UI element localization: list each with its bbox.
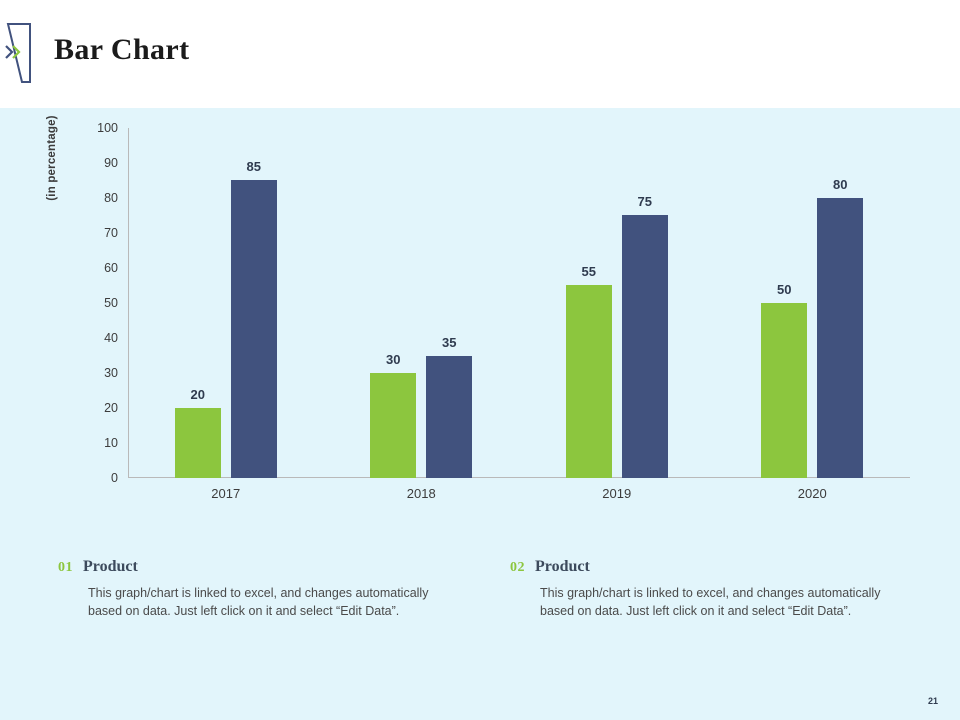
- y-tick-label: 90: [104, 156, 118, 170]
- bar-wrapper: 55: [566, 128, 612, 478]
- y-tick-label: 10: [104, 436, 118, 450]
- bar-value-label: 85: [247, 159, 261, 174]
- x-tick-label-2020: 2020: [715, 486, 910, 501]
- bar-2018-product-02[interactable]: [426, 356, 472, 478]
- note-number: 01: [58, 560, 73, 576]
- bar-wrapper: 35: [426, 128, 472, 478]
- chart-plot-area: 0 10 20 30 40 50 60 70 80 90 100 20: [128, 128, 910, 478]
- bar-groups: 20 85 30 35: [128, 128, 910, 478]
- slide-header: Bar Chart: [0, 0, 960, 108]
- y-tick-label: 50: [104, 296, 118, 310]
- bar-2020-product-01[interactable]: [761, 303, 807, 478]
- page-title: Bar Chart: [54, 33, 190, 67]
- x-tick-label-2017: 2017: [128, 486, 323, 501]
- bar-wrapper: 50: [761, 128, 807, 478]
- note-number: 02: [510, 560, 525, 576]
- bar-value-label: 75: [638, 194, 652, 209]
- note-title: Product: [535, 558, 590, 576]
- bar-value-label: 35: [442, 335, 456, 350]
- bar-value-label: 30: [386, 352, 400, 367]
- bar-wrapper: 80: [817, 128, 863, 478]
- bar-value-label: 80: [833, 177, 847, 192]
- y-tick-label: 70: [104, 226, 118, 240]
- bar-wrapper: 85: [231, 128, 277, 478]
- bar-wrapper: 20: [175, 128, 221, 478]
- note-header: 01 Product: [58, 558, 488, 576]
- note-title: Product: [83, 558, 138, 576]
- bar-2018-product-01[interactable]: [370, 373, 416, 478]
- bar-2020-product-02[interactable]: [817, 198, 863, 478]
- note-item-02: 02 Product This graph/chart is linked to…: [510, 558, 940, 620]
- note-text: This graph/chart is linked to excel, and…: [88, 584, 443, 620]
- bar-value-label: 50: [777, 282, 791, 297]
- y-axis-title: (in percentage): [46, 88, 58, 228]
- x-axis-labels: 2017 2018 2019 2020: [128, 486, 910, 501]
- note-header: 02 Product: [510, 558, 940, 576]
- y-tick-label: 20: [104, 401, 118, 415]
- bar-wrapper: 30: [370, 128, 416, 478]
- notes-section: 01 Product This graph/chart is linked to…: [0, 558, 960, 620]
- y-tick-label: 80: [104, 191, 118, 205]
- y-tick-label: 30: [104, 366, 118, 380]
- x-tick-label-2019: 2019: [519, 486, 714, 501]
- bar-2019-product-02[interactable]: [622, 215, 668, 478]
- note-text: This graph/chart is linked to excel, and…: [540, 584, 895, 620]
- bar-chart: (in percentage) 0 10 20 30 40 50 60 70 8…: [0, 108, 960, 508]
- y-tick-label: 0: [111, 471, 118, 485]
- bar-2019-product-01[interactable]: [566, 285, 612, 478]
- content-panel: (in percentage) 0 10 20 30 40 50 60 70 8…: [0, 108, 960, 720]
- x-tick-label-2018: 2018: [324, 486, 519, 501]
- bar-value-label: 20: [191, 387, 205, 402]
- bar-group-2018: 30 35: [324, 128, 519, 478]
- double-chevron-right-icon: [0, 22, 46, 84]
- y-tick-label: 40: [104, 331, 118, 345]
- bar-group-2020: 50 80: [715, 128, 910, 478]
- note-item-01: 01 Product This graph/chart is linked to…: [58, 558, 488, 620]
- y-tick-label: 100: [97, 121, 118, 135]
- bar-2017-product-01[interactable]: [175, 408, 221, 478]
- page-number: 21: [928, 696, 938, 706]
- bar-wrapper: 75: [622, 128, 668, 478]
- y-tick-label: 60: [104, 261, 118, 275]
- bar-2017-product-02[interactable]: [231, 180, 277, 478]
- slide: Bar Chart (in percentage) 0 10 20 30 40 …: [0, 0, 960, 720]
- bar-group-2017: 20 85: [128, 128, 323, 478]
- bar-group-2019: 55 75: [519, 128, 714, 478]
- bar-value-label: 55: [582, 264, 596, 279]
